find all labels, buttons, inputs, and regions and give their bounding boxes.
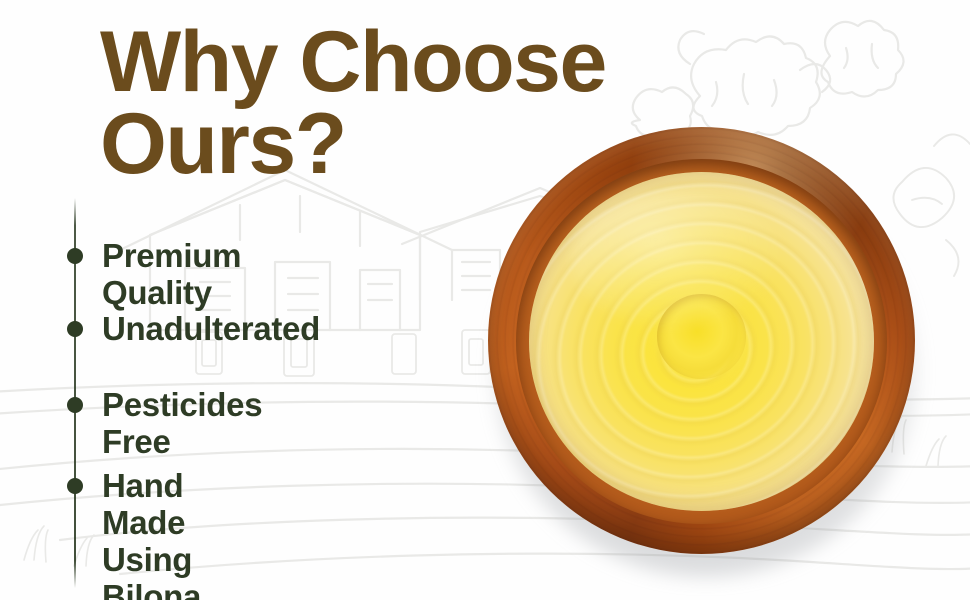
feature-list: Premium Quality Unadulterated Pesticides… bbox=[0, 0, 470, 600]
product-image-ghee-bowl bbox=[488, 127, 915, 554]
bullet-dot-icon bbox=[67, 478, 83, 494]
ghee-highlight-sheen bbox=[570, 192, 784, 328]
bullet-dot-icon bbox=[67, 321, 83, 337]
bullet-dot-icon bbox=[67, 248, 83, 264]
feature-label-pesticides-free: Pesticides Free bbox=[102, 387, 262, 461]
feature-label-premium-quality: Premium Quality bbox=[102, 238, 241, 312]
bullet-dot-icon bbox=[67, 397, 83, 413]
ghee-surface bbox=[529, 172, 875, 511]
why-choose-ours-banner: Why Choose Ours? Premium Quality Unadult… bbox=[0, 0, 970, 600]
feature-label-hand-made-bilona: Hand Made Using Bilona Method bbox=[102, 468, 218, 600]
feature-label-unadulterated: Unadulterated bbox=[102, 311, 320, 348]
